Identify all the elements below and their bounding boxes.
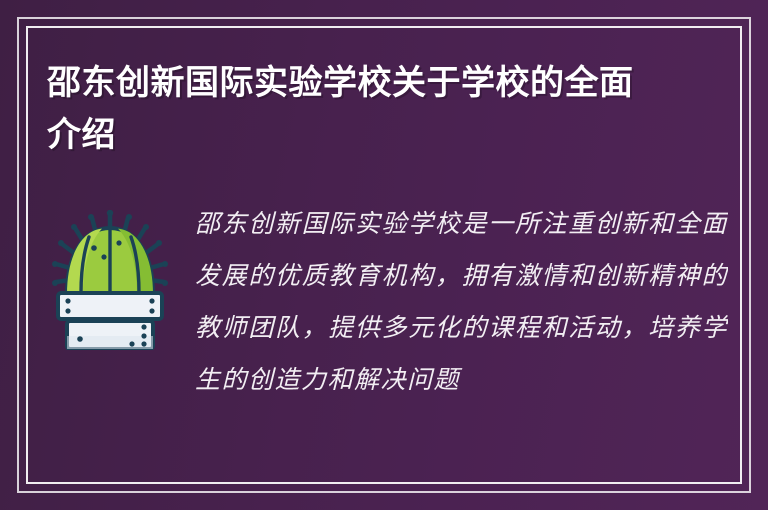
cactus-in-pot-icon [47,210,173,350]
content-row: 邵东创新国际实验学校是一所注重创新和全面发展的优质教育机构，拥有激情和创新精神的… [47,196,728,406]
poster-canvas: 邵东创新国际实验学校关于学校的全面介绍 [0,0,768,510]
title-block: 邵东创新国际实验学校关于学校的全面介绍 [47,58,647,161]
page-title: 邵东创新国际实验学校关于学校的全面介绍 [47,58,647,161]
body-paragraph: 邵东创新国际实验学校是一所注重创新和全面发展的优质教育机构，拥有激情和创新精神的… [195,196,728,406]
